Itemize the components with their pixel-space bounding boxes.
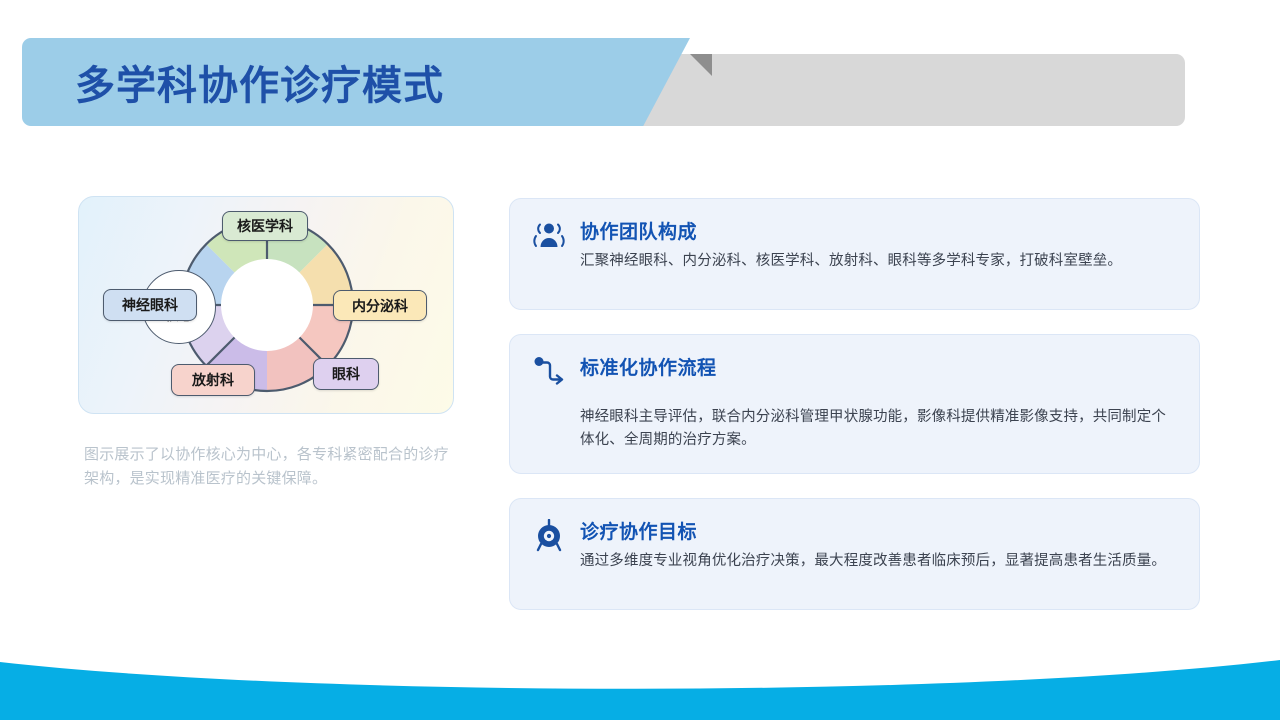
diagram-node-neuro-ophthalmology[interactable]: 神经眼科 [103, 289, 197, 321]
diagram-node-endocrinology[interactable]: 内分泌科 [333, 290, 427, 321]
info-card-workflow[interactable]: 标准化协作流程 神经眼科主导评估，联合内分泌科管理甲状腺功能，影像科提供精准影像… [509, 334, 1200, 474]
info-card-body: 汇聚神经眼科、内分泌科、核医学科、放射科、眼科等多学科专家，打破科室壁垒。 [580, 250, 1177, 273]
info-card-body: 通过多维度专业视角优化治疗决策，最大程度改善患者临床预后，显著提高患者生活质量。 [580, 550, 1177, 573]
diagram-node-nuclear-medicine[interactable]: 核医学科 [222, 211, 308, 241]
bottom-wave-decoration [0, 640, 1280, 720]
users-group-icon [532, 219, 566, 253]
page-title: 多学科协作诊疗模式 [75, 38, 444, 126]
diagram-node-radiology[interactable]: 放射科 [171, 364, 255, 396]
info-card-team[interactable]: 协作团队构成 汇聚神经眼科、内分泌科、核医学科、放射科、眼科等多学科专家，打破科… [509, 198, 1200, 310]
target-icon [532, 519, 566, 553]
info-card-title: 诊疗协作目标 [580, 517, 1177, 544]
header-banner: 多学科协作诊疗模式 [0, 38, 1200, 130]
diagram-caption: 图示展示了以协作核心为中心，各专科紧密配合的诊疗架构，是实现精准医疗的关键保障。 [84, 443, 462, 492]
slide-root: 多学科协作诊疗模式 [0, 0, 1280, 720]
banner-gray-ribbon [650, 54, 1185, 126]
info-card-body: 神经眼科主导评估，联合内分泌科管理甲状腺功能，影像科提供精准影像支持，共同制定个… [580, 406, 1177, 453]
flow-arrow-icon [532, 355, 566, 389]
info-card-title: 协作团队构成 [580, 217, 1177, 244]
info-card-title: 标准化协作流程 [580, 353, 1177, 380]
diagram-node-ophthalmology[interactable]: 眼科 [313, 358, 379, 390]
info-card-goal[interactable]: 诊疗协作目标 通过多维度专业视角优化治疗决策，最大程度改善患者临床预后，显著提高… [509, 498, 1200, 610]
banner-fold-triangle-icon [690, 54, 712, 76]
info-card-list: 协作团队构成 汇聚神经眼科、内分泌科、核医学科、放射科、眼科等多学科专家，打破科… [509, 198, 1200, 634]
